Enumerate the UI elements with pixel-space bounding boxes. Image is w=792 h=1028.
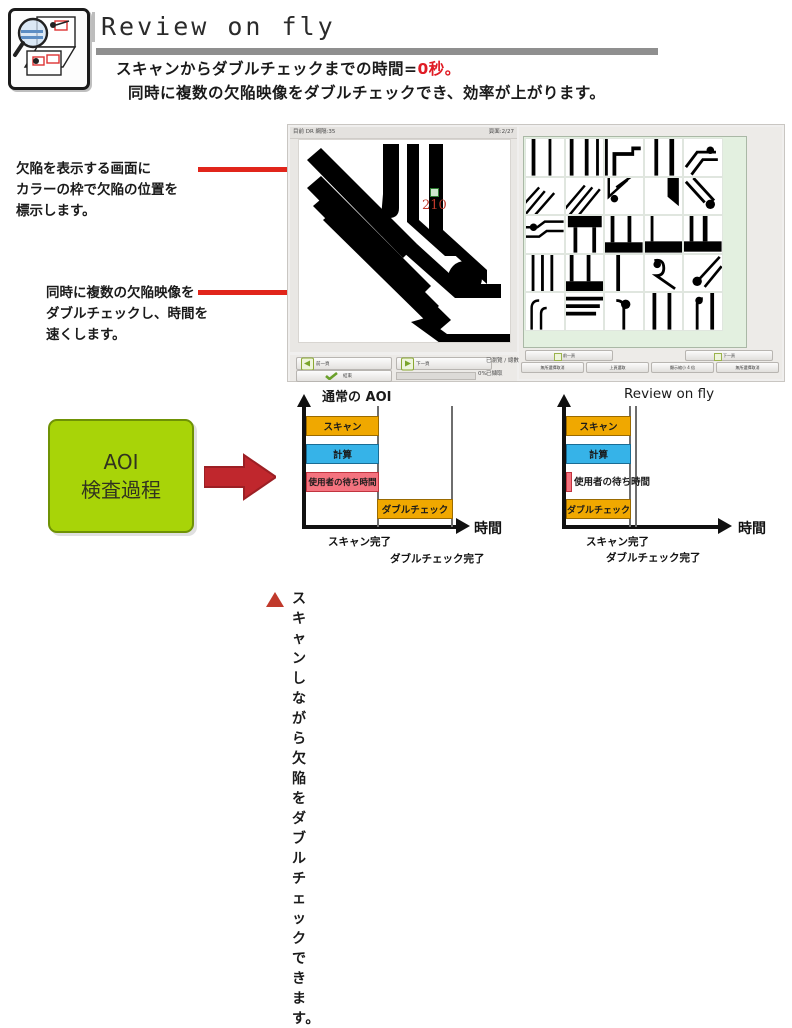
thumbnail-cell[interactable] <box>604 292 644 331</box>
status-left-text: 目前 DR 網隔:35 <box>293 127 335 138</box>
review-progress-bar <box>396 372 476 380</box>
thumbnail-cell[interactable] <box>604 177 644 216</box>
process-arrow-icon <box>204 453 276 501</box>
thumbnail-cell[interactable] <box>525 254 565 293</box>
inspection-toolbar: 前一頁 下一頁 結束 0% 已瀏覽 / 總數:50/671 已擷取 0 <box>290 355 517 381</box>
zoom-out-button[interactable]: 顯示縮小 4 倍 <box>651 362 714 373</box>
thumbnail-cell[interactable] <box>525 215 565 254</box>
thumbnail-cell[interactable] <box>565 177 605 216</box>
review-on-fly-timeline-chart: Review on fly 時間 スキャン 計算 使用者の待ち時間 ダブルチェッ… <box>548 386 788 586</box>
callout-1-line-2: カラーの枠で欠陥の位置を <box>16 180 178 201</box>
thumbnail-cell[interactable] <box>604 138 644 177</box>
callout-2-line-1: 同時に複数の欠陥映像を <box>46 283 208 304</box>
defect-box-marker <box>430 188 439 197</box>
pcb-image-canvas[interactable]: 210 <box>298 139 511 343</box>
bar-doublecheck-right: ダブルチェック <box>566 499 631 519</box>
arrow-left-icon <box>301 357 314 370</box>
thumbnail-cell[interactable] <box>683 138 723 177</box>
thumbnail-toolbar: 前一頁 下一頁 無所選擇取消 上頁選取 顯示縮小 4 倍 無所選擇取消 <box>519 349 782 379</box>
logo-icon <box>8 8 90 90</box>
thumb-prev-page-button[interactable]: 前一頁 <box>525 350 613 361</box>
thumb-prev-label: 前一頁 <box>563 353 575 359</box>
subtitle-line-1-text: スキャンからダブルチェックまでの時間= <box>116 60 418 78</box>
subtitle-highlight: 0秒 <box>418 60 445 78</box>
thumbnail-cell[interactable] <box>683 215 723 254</box>
x-axis-left <box>302 525 460 529</box>
arrow-left-icon <box>554 353 562 361</box>
subtitle-line-2: 同時に複数の欠陥映像をダブルチェックでき、効率が上がります。 <box>128 81 605 103</box>
aoi-box-line-1: AOI <box>104 448 139 476</box>
tick-scan-complete-right: スキャン完了 <box>586 534 649 549</box>
clear-selection-label: 無所選擇取消 <box>541 365 565 371</box>
defect-thumbnail-pane: 前一頁 下一頁 無所選擇取消 上頁選取 顯示縮小 4 倍 無所選擇取消 <box>519 127 782 379</box>
thumbnail-cell[interactable] <box>525 138 565 177</box>
confirm-button[interactable]: 結束 <box>296 370 392 382</box>
cancel-selection-label: 無所選擇取消 <box>736 365 760 371</box>
aoi-process-box: AOI 検査過程 <box>48 419 194 533</box>
callout-1-line-3: 標示します。 <box>16 201 178 222</box>
bar-scan-left: スキャン <box>306 416 379 436</box>
defect-display-callout: 欠陥を表示する画面に カラーの枠で欠陥の位置を 標示します。 <box>16 159 178 222</box>
x-axis-arrowhead-icon <box>456 518 470 534</box>
inspection-status-bar: 目前 DR 網隔:35 頁面:2/27 <box>290 127 517 139</box>
thumbnail-cell[interactable] <box>525 177 565 216</box>
footer-note-text: スキャンしながら欠陥をダブルチェックできます。 <box>292 588 320 1028</box>
aoi-box-line-2: 検査過程 <box>81 476 161 504</box>
aoi-application-screenshot: 目前 DR 網隔:35 頁面:2/27 <box>287 124 785 382</box>
thumbnail-cell[interactable] <box>565 138 605 177</box>
subtitle-period: 。 <box>445 60 461 78</box>
confirm-label: 結束 <box>343 373 352 379</box>
bar-scan-right: スキャン <box>566 416 631 436</box>
x-axis-right <box>562 525 722 529</box>
bar-calc-left: 計算 <box>306 444 379 464</box>
arrow-right-icon <box>401 357 414 370</box>
tick-doublecheck-complete-left: ダブルチェック完了 <box>390 551 485 566</box>
page-title: Review on fly <box>92 12 678 42</box>
thumbnail-cell[interactable] <box>683 177 723 216</box>
chart-title-left: 通常の AOI <box>322 386 391 405</box>
callout-1-line-1: 欠陥を表示する画面に <box>16 159 178 180</box>
bar-doublecheck-left: ダブルチェック <box>377 499 453 519</box>
thumbnail-grid[interactable] <box>525 138 723 331</box>
thumb-next-label: 下一頁 <box>723 353 735 359</box>
next-page-label: 下一頁 <box>416 361 430 367</box>
thumbnail-cell[interactable] <box>683 292 723 331</box>
callout-2-line-2: ダブルチェックし、時間を <box>46 304 208 325</box>
thumbnail-cell[interactable] <box>683 254 723 293</box>
x-axis-label-right: 時間 <box>738 518 766 538</box>
prev-selection-button[interactable]: 上頁選取 <box>586 362 649 373</box>
thumbnail-cell[interactable] <box>565 254 605 293</box>
tick-doublecheck-complete-right: ダブルチェック完了 <box>606 550 701 565</box>
thumbnail-cell[interactable] <box>644 138 684 177</box>
tick-scan-complete-left: スキャン完了 <box>328 534 391 549</box>
bar-wait-left: 使用者の待ち時間 <box>306 472 379 492</box>
bar-wait-right-label: 使用者の待ち時間 <box>574 474 650 488</box>
status-right-text: 頁面:2/27 <box>489 127 514 138</box>
checkmark-icon <box>325 372 339 380</box>
thumbnail-cell[interactable] <box>525 292 565 331</box>
multi-defect-callout: 同時に複数の欠陥映像を ダブルチェックし、時間を 速くします。 <box>46 283 208 346</box>
doublecheck-complete-gridline <box>635 406 637 527</box>
prev-page-button[interactable]: 前一頁 <box>296 357 392 370</box>
x-axis-arrowhead-icon <box>718 518 732 534</box>
thumb-next-page-button[interactable]: 下一頁 <box>685 350 773 361</box>
thumbnail-cell[interactable] <box>644 254 684 293</box>
title-bar: Review on fly <box>92 12 678 42</box>
thumbnail-grid-panel[interactable] <box>523 136 747 348</box>
chart-title-right: Review on fly <box>624 386 714 402</box>
conventional-aoi-timeline-chart: 通常の AOI 時間 スキャン 計算 使用者の待ち時間 ダブルチェック スキャン… <box>288 386 516 586</box>
bar-calc-right: 計算 <box>566 444 631 464</box>
defect-id-label: 210 <box>422 198 447 213</box>
pcb-trace-graphic <box>299 140 510 342</box>
cancel-selection-button[interactable]: 無所選擇取消 <box>716 362 779 373</box>
inspection-pane: 目前 DR 網隔:35 頁面:2/27 <box>290 127 517 352</box>
thumbnail-cell[interactable] <box>604 254 644 293</box>
magnifier-over-documents-icon <box>11 11 81 81</box>
thumbnail-cell[interactable] <box>644 292 684 331</box>
thumbnail-cell[interactable] <box>644 177 684 216</box>
bar-wait-right <box>566 472 572 492</box>
subtitle-line-1: スキャンからダブルチェックまでの時間=0秒。 <box>116 57 461 79</box>
clear-selection-button[interactable]: 無所選擇取消 <box>521 362 584 373</box>
captured-label: 已擷取 <box>486 369 503 380</box>
callout-2-line-3: 速くします。 <box>46 325 208 346</box>
x-axis-label-left: 時間 <box>474 518 502 538</box>
title-divider <box>96 48 658 55</box>
zoom-out-label: 顯示縮小 4 倍 <box>670 365 695 371</box>
triangle-bullet-icon <box>266 592 284 607</box>
prev-page-label: 前一頁 <box>316 361 330 367</box>
thumbnail-cell[interactable] <box>565 215 605 254</box>
thumbnail-cell[interactable] <box>604 215 644 254</box>
arrow-right-icon <box>714 353 722 361</box>
thumbnail-cell[interactable] <box>565 292 605 331</box>
prev-selection-label: 上頁選取 <box>610 365 626 371</box>
thumbnail-cell[interactable] <box>644 215 684 254</box>
